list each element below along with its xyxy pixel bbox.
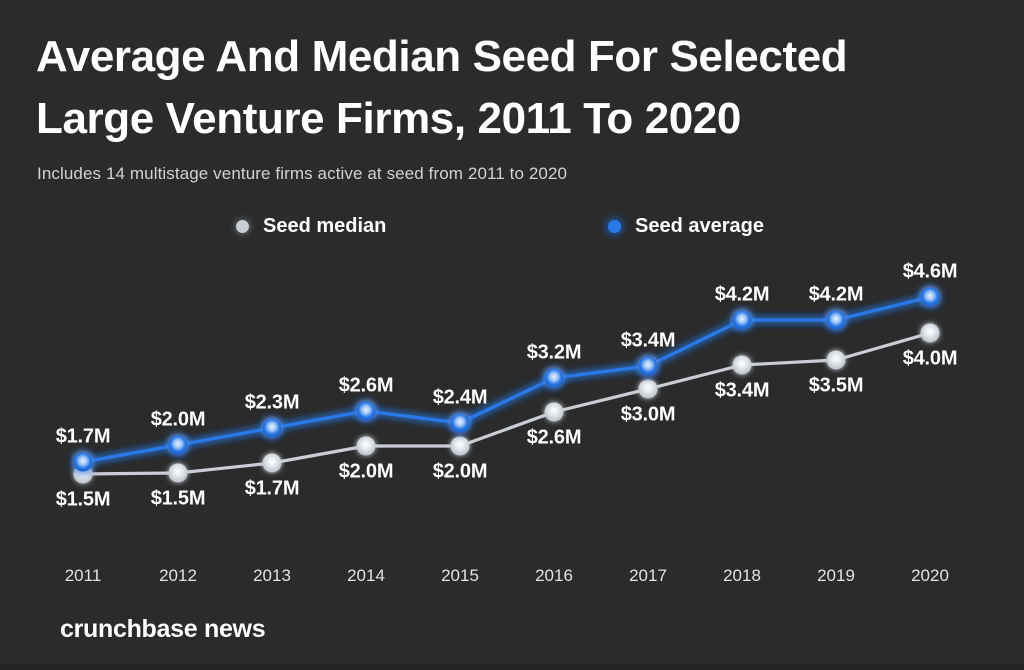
data-label-seed-median: $2.0M: [433, 461, 488, 484]
x-axis-tick-2018: 2018: [723, 566, 761, 586]
bottom-edge-strip: [0, 664, 1024, 670]
data-point-seed-median[interactable]: [451, 437, 470, 456]
data-label-seed-median: $3.5M: [809, 375, 864, 398]
x-axis-tick-2017: 2017: [629, 566, 667, 586]
data-label-seed-average: $1.7M: [56, 426, 111, 449]
data-label-seed-median: $1.5M: [151, 488, 206, 511]
x-axis-tick-2011: 2011: [65, 566, 102, 586]
data-point-seed-median[interactable]: [827, 351, 846, 370]
data-label-seed-average: $4.2M: [715, 284, 770, 307]
data-label-seed-average: $2.3M: [245, 392, 300, 415]
series-line-seed-average: [83, 297, 930, 462]
data-label-seed-median: $3.4M: [715, 380, 770, 403]
data-point-seed-median[interactable]: [357, 437, 376, 456]
brand-logo-text: crunchbase news: [60, 615, 265, 644]
data-point-seed-median[interactable]: [733, 356, 752, 375]
data-label-seed-average: $3.2M: [527, 342, 582, 365]
x-axis-tick-2014: 2014: [347, 566, 385, 586]
data-point-seed-median[interactable]: [921, 324, 940, 343]
data-label-seed-average: $4.2M: [809, 284, 864, 307]
x-axis-tick-2020: 2020: [911, 566, 949, 586]
data-label-seed-median: $4.0M: [903, 348, 958, 371]
data-point-seed-average[interactable]: [639, 357, 658, 376]
data-point-seed-average[interactable]: [357, 402, 376, 421]
data-point-seed-median[interactable]: [169, 464, 188, 483]
x-axis-tick-2012: 2012: [159, 566, 197, 586]
x-axis-tick-2019: 2019: [817, 566, 855, 586]
data-label-seed-average: $3.4M: [621, 330, 676, 353]
data-point-seed-average[interactable]: [263, 419, 282, 438]
data-point-seed-average[interactable]: [74, 453, 93, 472]
chart-plot-area: [0, 0, 1024, 670]
data-label-seed-average: $2.6M: [339, 375, 394, 398]
series-markers-seed-median: [74, 324, 940, 484]
data-label-seed-median: $2.6M: [527, 427, 582, 450]
x-axis-tick-2013: 2013: [253, 566, 291, 586]
data-point-seed-average[interactable]: [827, 311, 846, 330]
data-point-seed-median[interactable]: [639, 380, 658, 399]
data-point-seed-median[interactable]: [545, 403, 564, 422]
data-label-seed-average: $2.4M: [433, 387, 488, 410]
data-label-seed-median: $3.0M: [621, 404, 676, 427]
chart-page: Average And Median Seed For Selected Lar…: [0, 0, 1024, 670]
x-axis-tick-2016: 2016: [535, 566, 573, 586]
data-point-seed-average[interactable]: [169, 436, 188, 455]
data-point-seed-average[interactable]: [451, 414, 470, 433]
series-line-seed-median: [83, 333, 930, 474]
data-point-seed-average[interactable]: [545, 369, 564, 388]
data-label-seed-median: $1.5M: [56, 489, 111, 512]
data-point-seed-median[interactable]: [263, 454, 282, 473]
data-label-seed-median: $2.0M: [339, 461, 394, 484]
x-axis-tick-2015: 2015: [441, 566, 479, 586]
data-point-seed-average[interactable]: [921, 288, 940, 307]
data-label-seed-average: $2.0M: [151, 409, 206, 432]
data-label-seed-average: $4.6M: [903, 261, 958, 284]
data-label-seed-median: $1.7M: [245, 478, 300, 501]
data-point-seed-average[interactable]: [733, 311, 752, 330]
